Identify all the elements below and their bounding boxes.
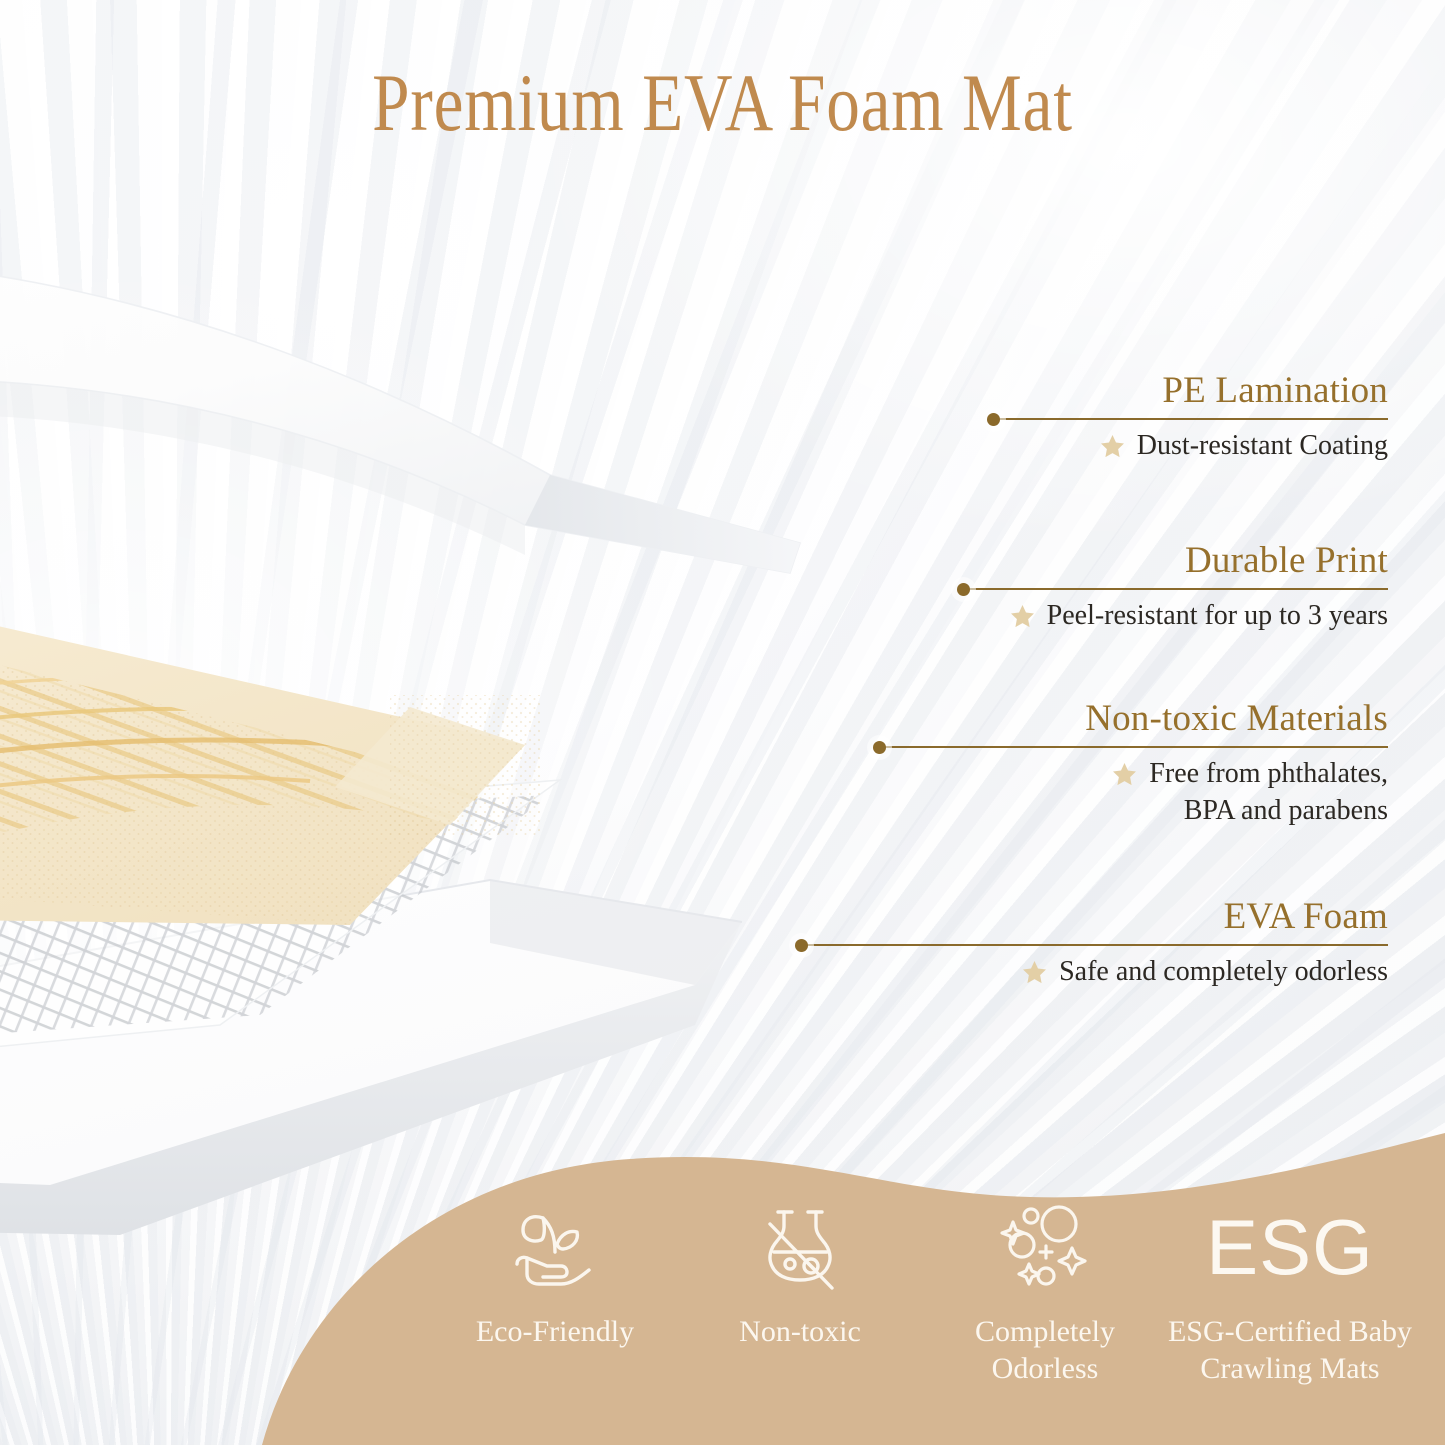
badge-completely-odorless: Completely Odorless xyxy=(923,1195,1168,1387)
layer-pe-lamination xyxy=(0,258,800,573)
feature-subtext-line: Safe and completely odorless xyxy=(1059,954,1388,991)
esg-wordmark: ESG xyxy=(1206,1195,1374,1300)
star-icon xyxy=(1009,603,1036,630)
leader-line xyxy=(992,418,1388,420)
feature-subtext: Peel-resistant for up to 3 years xyxy=(1009,598,1388,635)
infographic-canvas: Premium EVA Foam Mat xyxy=(0,0,1445,1445)
star-icon xyxy=(1111,761,1138,788)
badge-label-line: Completely xyxy=(975,1314,1115,1351)
badge-label-line: Odorless xyxy=(975,1351,1115,1388)
hand-sprout-icon xyxy=(503,1195,607,1300)
badge-label: Eco-Friendly xyxy=(476,1314,634,1351)
feature-subtext-line: BPA and parabens xyxy=(1149,793,1388,830)
feature-heading: EVA Foam xyxy=(1224,897,1388,937)
feature-heading: Durable Print xyxy=(1185,541,1388,581)
badge-non-toxic: Non-toxic xyxy=(678,1195,923,1351)
leader-line xyxy=(878,746,1388,748)
badge-label-line: Eco-Friendly xyxy=(476,1314,634,1351)
badge-label: Non-toxic xyxy=(739,1314,861,1351)
badge-esg-certified: ESG ESG-Certified Baby Crawling Mats xyxy=(1168,1195,1413,1387)
badge-label-line: Non-toxic xyxy=(739,1314,861,1351)
badge-eco-friendly: Eco-Friendly xyxy=(433,1195,678,1351)
leader-dot xyxy=(873,741,886,754)
feature-heading: PE Lamination xyxy=(1162,371,1388,411)
badge-label: ESG-Certified Baby Crawling Mats xyxy=(1168,1314,1412,1387)
star-icon xyxy=(1021,959,1048,986)
feature-subtext-line: Peel-resistant for up to 3 years xyxy=(1047,598,1388,635)
feature-subtext: Free from phthalates, BPA and parabens xyxy=(1111,756,1388,830)
esg-wordmark-text: ESG xyxy=(1206,1210,1374,1284)
leader-dot xyxy=(957,583,970,596)
leader-line xyxy=(800,944,1388,946)
feature-heading: Non-toxic Materials xyxy=(1085,699,1388,739)
page-title: Premium EVA Foam Mat xyxy=(130,62,1315,144)
feature-subtext-line: Dust-resistant Coating xyxy=(1137,428,1388,465)
feature-subtext: Safe and completely odorless xyxy=(1021,954,1388,991)
leader-line xyxy=(962,588,1388,590)
sparkles-bubbles-icon xyxy=(993,1195,1097,1300)
star-icon xyxy=(1099,433,1126,460)
bottom-badge-band: Eco-Friendly xyxy=(0,1115,1445,1445)
badge-label-line: Crawling Mats xyxy=(1168,1351,1412,1388)
no-chemical-flask-icon xyxy=(748,1195,852,1300)
badge-label-line: ESG-Certified Baby xyxy=(1168,1314,1412,1351)
feature-subtext: Dust-resistant Coating xyxy=(1099,428,1388,465)
badge-label: Completely Odorless xyxy=(975,1314,1115,1387)
product-exploded-illustration xyxy=(0,225,930,1205)
leader-dot xyxy=(987,413,1000,426)
leader-dot xyxy=(795,939,808,952)
feature-subtext-line: Free from phthalates, xyxy=(1149,756,1388,793)
